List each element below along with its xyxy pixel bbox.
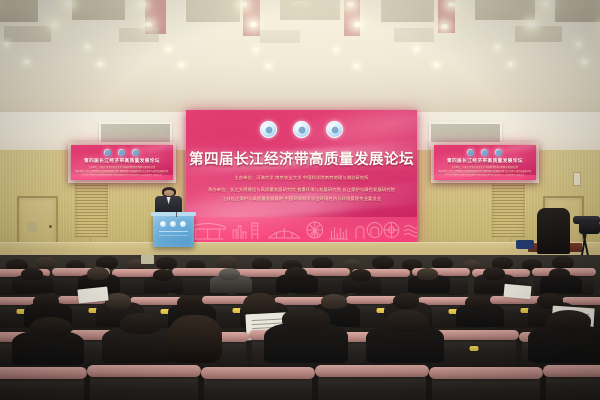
seat [90,371,198,400]
seat [318,371,426,400]
cohost-line-2: 江苏长江保护与高质量发展基地 中国环境科学学会环境经济与环境管理专业委员会 [186,196,417,202]
institution-seal-1-icon [260,121,277,138]
side-screen-right-title: 第四届长江经济带高质量发展论坛 [438,157,532,163]
audience-member [393,293,419,309]
seat [204,373,312,400]
side-screen-left-title: 第四届长江经济带高质量发展论坛 [75,157,169,163]
audience-member [384,310,429,332]
side-left-seal-2 [118,149,125,156]
wall-plate-left [27,222,37,232]
podium-seal-3-icon [180,221,186,227]
gate-arch-icon [356,227,364,240]
side-screen-right-frame: 第四届长江经济带高质量发展论坛 主办单位：河海大学 南京农业大学 中国科学院南京… [431,142,539,183]
organizer-line: 主办单位：河海大学 南京农业大学 中国科学院南京地理与湖泊研究所 [186,175,417,181]
side-right-seal-2 [481,149,488,156]
podium-seal-1-icon [160,221,166,227]
podium-logo-row [153,221,194,227]
audience-member [483,267,505,280]
audience-member [30,317,72,337]
cohost-line-1: 承办单位：长江文明建设与高质量发展研究院 普惠环境与发展研究院 长江保护与绿色发… [186,187,417,193]
side-screen-left-frame: 第四届长江经济带高质量发展论坛 主办单位：河海大学 南京农业大学 中国科学院南京… [68,142,176,183]
audience-member [87,267,109,280]
screen-logo-row [186,121,417,138]
audience-member [549,268,570,280]
skyline-row-icon [331,227,346,239]
audience-member [21,268,43,280]
camera-operator [537,208,570,254]
audience-member [168,315,222,363]
podium-top-edge [151,212,196,216]
audience-member [105,293,131,309]
ceiling-rosette [290,1,312,9]
side-chair [516,240,534,249]
audience-member [120,313,162,334]
audience-member [33,294,59,309]
seat [546,371,600,400]
landmark-icon-strip [186,217,417,242]
wave-lines-icon [404,226,417,229]
audience-member [285,267,307,280]
audience-member [36,257,56,269]
pavilion-roof-icon [190,224,225,230]
seat [432,335,516,371]
tower-icon [252,223,258,239]
audience-member [546,310,591,332]
audience-member [282,307,330,331]
podium [153,215,194,247]
audience-member [321,294,347,309]
city-skyline-icon [233,226,246,239]
side-left-seal-1 [104,149,111,156]
seat [0,373,84,400]
side-left-seal-3 [132,149,139,156]
audience-member [417,268,438,280]
raised-phone [141,255,154,264]
audience-member [465,295,490,310]
audience-member [153,269,173,281]
ceiling [0,0,600,118]
institution-seal-3-icon [326,121,343,138]
main-stage-screen: 第四届长江经济带高质量发展论坛 主办单位：河海大学 南京农业大学 中国科学院南京… [186,110,417,242]
speaker-head [162,187,176,197]
auditorium-photo: 第四届长江经济带高质量发展论坛 主办单位：河海大学 南京农业大学 中国科学院南京… [0,0,600,400]
side-right-seal-1 [467,149,474,156]
microphone-stem [176,206,177,217]
handout-paper [503,284,531,299]
audience-member [351,269,371,281]
side-right-seal-3 [495,149,502,156]
podium-seal-2-icon [170,221,176,227]
audience-member [177,295,202,310]
audience-member [372,256,394,269]
forum-title: 第四届长江经济带高质量发展论坛 [186,148,417,169]
seat [432,373,540,400]
pagoda-circle-icon [367,223,382,238]
audience-member [219,268,240,280]
wall-box-right [573,172,581,186]
institution-seal-2-icon [293,121,310,138]
audience-seating [0,255,600,400]
